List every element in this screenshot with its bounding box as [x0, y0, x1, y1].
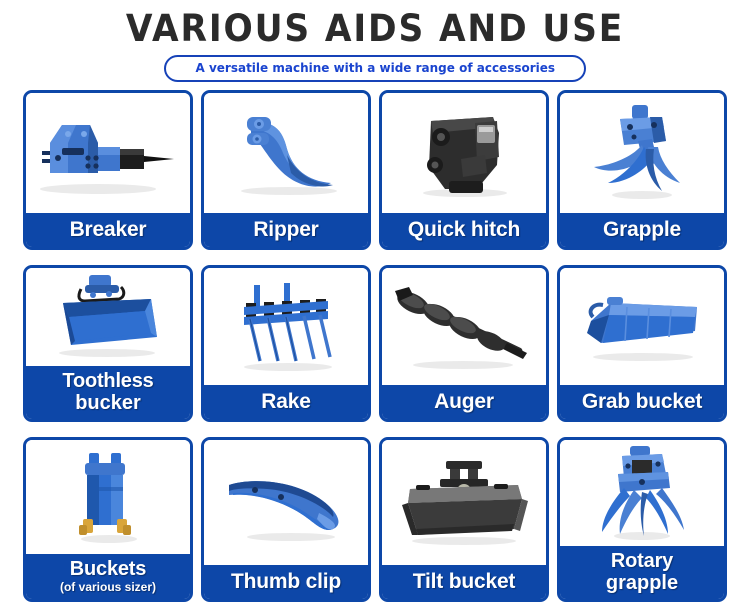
attachment-label: Breaker	[26, 213, 190, 247]
rake-icon	[216, 279, 356, 375]
attachment-grid: Breaker Ripper	[23, 90, 727, 602]
attachment-label-line2: bucker	[28, 392, 188, 414]
attachment-label: Quick hitch	[382, 213, 546, 247]
attachment-card-grapple[interactable]: Grapple	[557, 90, 727, 250]
attachment-image-thumb-clip	[204, 440, 368, 565]
attachment-image-ripper	[204, 93, 368, 213]
attachment-card-thumb-clip[interactable]: Thumb clip	[201, 437, 371, 602]
attachment-image-rotary-grapple	[560, 440, 724, 546]
attachment-label: Thumb clip	[204, 565, 368, 599]
quick-hitch-icon	[389, 103, 539, 203]
grapple-icon	[572, 101, 712, 205]
attachment-card-toothless-bucker[interactable]: Toothless bucker	[23, 265, 193, 422]
attachment-label-line1: Toothless	[62, 370, 153, 392]
attachment-card-auger[interactable]: Auger	[379, 265, 549, 422]
attachment-card-rotary-grapple[interactable]: Rotary grapple	[557, 437, 727, 602]
attachment-image-quick-hitch	[382, 93, 546, 213]
grid-row: Buckets (of various sizer) Thumb clip	[23, 437, 727, 602]
attachment-image-toothless-bucker	[26, 268, 190, 366]
bucket-icon	[53, 447, 163, 547]
attachment-image-grab-bucket	[560, 268, 724, 385]
subtitle-pill: A versatile machine with a wide range of…	[164, 55, 587, 82]
attachment-image-tilt-bucket	[382, 440, 546, 565]
attachment-label: Toothless bucker	[26, 366, 190, 419]
subtitle-banner: A versatile machine with a wide range of…	[0, 55, 750, 82]
attachment-card-tilt-bucket[interactable]: Tilt bucket	[379, 437, 549, 602]
attachment-image-grapple	[560, 93, 724, 213]
attachment-card-quick-hitch[interactable]: Quick hitch	[379, 90, 549, 250]
attachment-card-buckets[interactable]: Buckets (of various sizer)	[23, 437, 193, 602]
attachment-label-line1: Rotary	[611, 550, 673, 572]
toothless-bucket-icon	[33, 271, 183, 363]
page-header: VARIOUS AIDS AND USE A versatile machine…	[0, 0, 750, 82]
attachment-image-auger	[382, 268, 546, 385]
attachment-card-grab-bucket[interactable]: Grab bucket	[557, 265, 727, 422]
attachment-label-line2: grapple	[562, 572, 722, 594]
attachment-card-ripper[interactable]: Ripper	[201, 90, 371, 250]
thumb-clip-icon	[211, 457, 361, 549]
attachment-label: Grapple	[560, 213, 724, 247]
grab-bucket-icon	[567, 285, 717, 369]
attachment-label: Auger	[382, 385, 546, 419]
attachment-image-rake	[204, 268, 368, 385]
attachment-label-line1: Buckets	[70, 558, 146, 580]
attachment-label: Rotary grapple	[560, 546, 724, 599]
attachment-label: Grab bucket	[560, 385, 724, 419]
rotary-grapple-icon	[576, 444, 708, 542]
attachment-card-rake[interactable]: Rake	[201, 265, 371, 422]
attachment-label: Tilt bucket	[382, 565, 546, 599]
page-title: VARIOUS AIDS AND USE	[26, 6, 724, 52]
ripper-icon	[211, 103, 361, 203]
auger-icon	[387, 281, 542, 373]
attachment-label: Ripper	[204, 213, 368, 247]
attachment-label: Rake	[204, 385, 368, 419]
attachment-label-sublabel: (of various sizer)	[28, 580, 188, 594]
tilt-bucket-icon	[388, 455, 540, 551]
hydraulic-breaker-icon	[28, 103, 188, 203]
attachment-image-breaker	[26, 93, 190, 213]
grid-row: Toothless bucker	[23, 265, 727, 422]
attachment-card-breaker[interactable]: Breaker	[23, 90, 193, 250]
attachment-label: Buckets (of various sizer)	[26, 554, 190, 599]
attachment-image-buckets	[26, 440, 190, 554]
grid-row: Breaker Ripper	[23, 90, 727, 250]
subtitle-text: A versatile machine with a wide range of…	[195, 60, 555, 75]
